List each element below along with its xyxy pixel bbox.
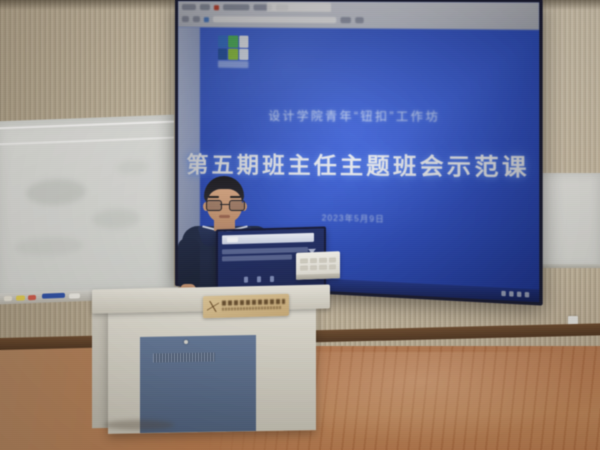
- presenter-mouth: [219, 215, 230, 218]
- laptop-window-button[interactable]: [227, 237, 238, 242]
- keypad-key[interactable]: [319, 258, 327, 263]
- podium-front-panel: [140, 335, 256, 433]
- app-icon[interactable]: [257, 276, 261, 282]
- podium-vent-grille: [153, 352, 215, 362]
- keypad-key[interactable]: [329, 257, 337, 262]
- marker-yellow: [16, 295, 25, 300]
- institution-emblem-icon: [207, 301, 219, 312]
- plaque-text-secondary: [222, 306, 281, 311]
- floor-light-reflection: [300, 352, 600, 448]
- laptop-window-titlebar[interactable]: [222, 233, 314, 245]
- eraser-blue: [42, 293, 65, 299]
- whiteboard-left: [0, 115, 174, 300]
- keypad-key[interactable]: [310, 265, 318, 270]
- podium-lock-knob[interactable]: [184, 340, 188, 344]
- podium-nameplate: [203, 294, 289, 318]
- keypad-key[interactable]: [300, 258, 308, 263]
- app-icon[interactable]: [270, 276, 274, 282]
- plaque-text-primary: [222, 299, 285, 306]
- keypad-key[interactable]: [300, 265, 308, 270]
- keypad-buttons[interactable]: [300, 257, 336, 270]
- laptop-icon-row: [244, 276, 274, 283]
- keypad-key[interactable]: [319, 265, 327, 270]
- glasses-icon: [206, 200, 243, 209]
- av-control-keypad[interactable]: [296, 251, 340, 280]
- marker-red: [28, 295, 36, 300]
- classroom-photo-scene: 设计学院青年“钮扣”工作坊 第五期班主任主题班会示范课 2023年5月9日: [0, 0, 600, 450]
- podium-floor-shadow: [104, 420, 174, 430]
- presenter-brow-left: [208, 196, 219, 198]
- keypad-key[interactable]: [310, 258, 318, 263]
- presenter-brow-right: [230, 196, 241, 198]
- app-icon[interactable]: [244, 277, 248, 283]
- marker-pale: [4, 296, 12, 301]
- presenter-arm-left: [178, 238, 200, 290]
- marker-white: [69, 293, 80, 298]
- keypad-key[interactable]: [329, 264, 337, 269]
